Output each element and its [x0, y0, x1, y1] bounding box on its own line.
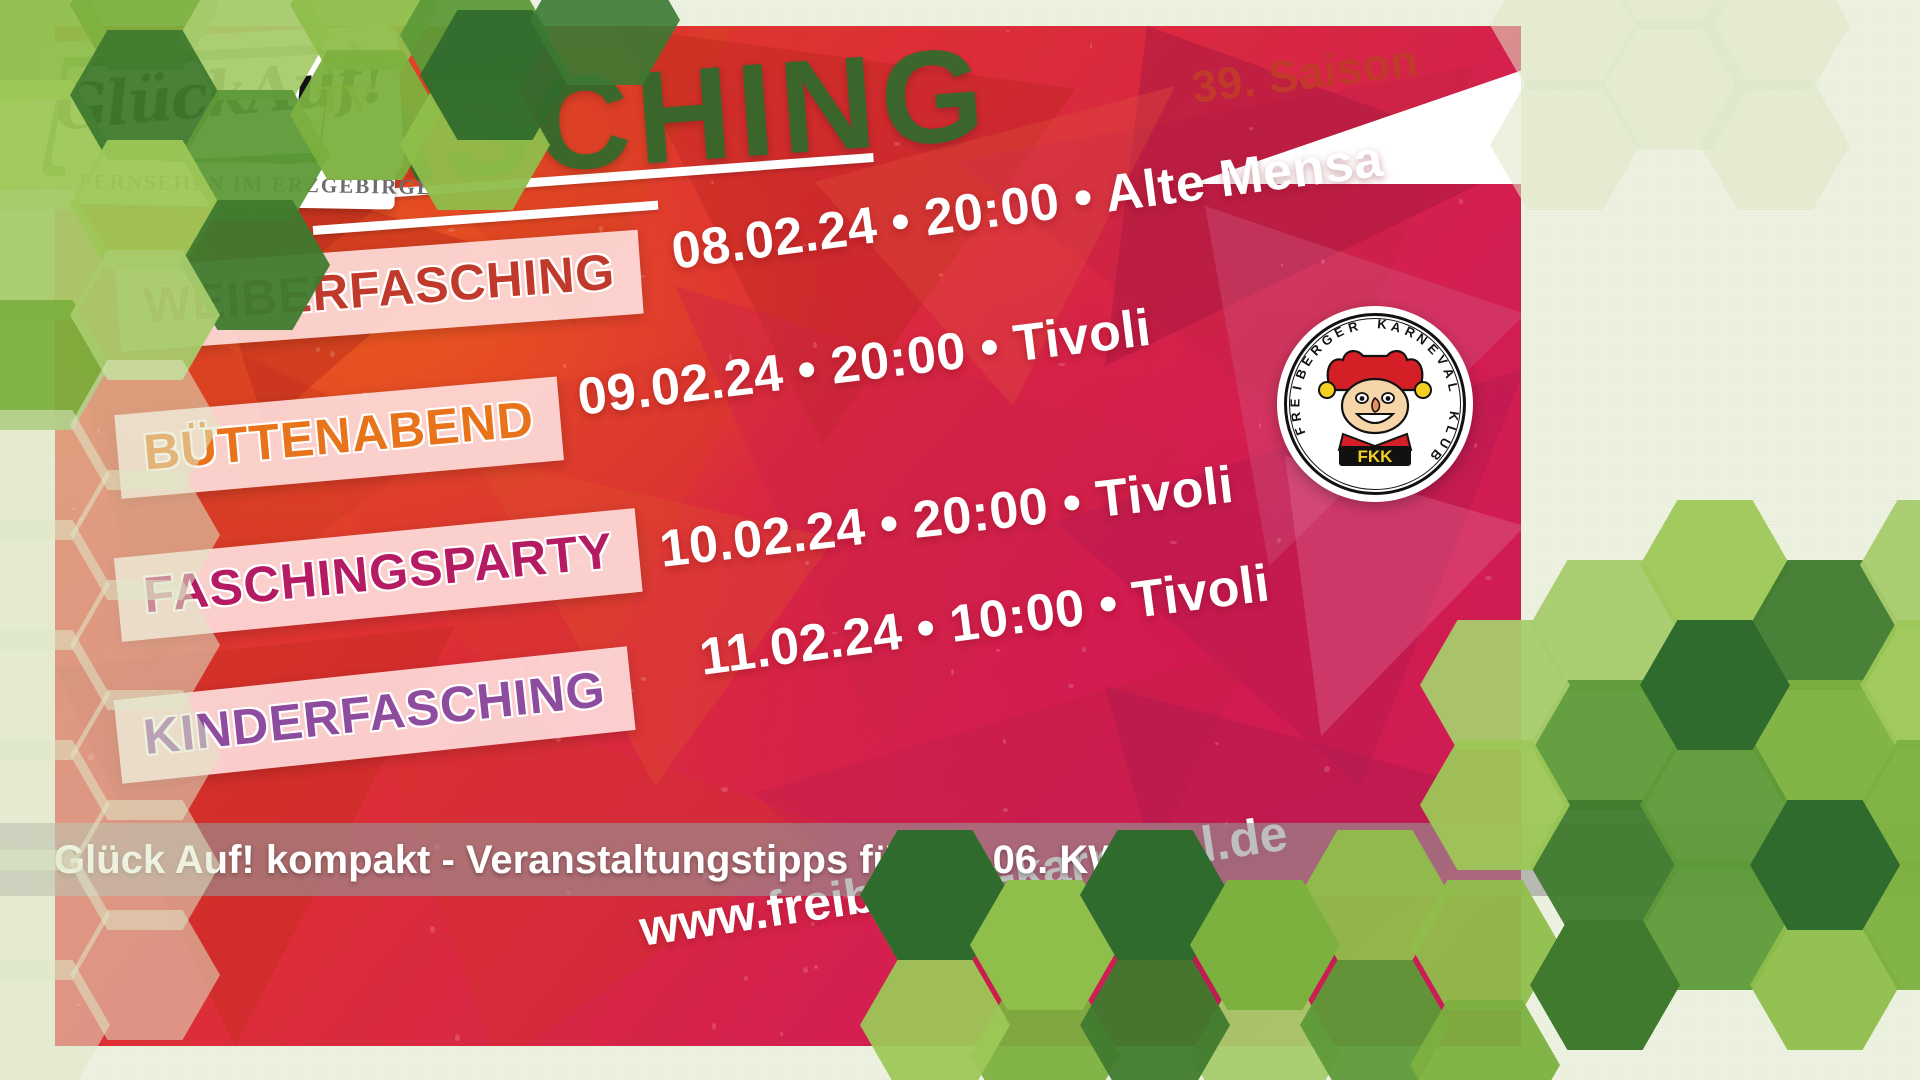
emblem-ring-char: E [1287, 398, 1302, 407]
speckle [1006, 30, 1010, 32]
speckle [448, 228, 455, 232]
speckle [316, 347, 320, 352]
speckle [1090, 43, 1092, 49]
speckle [744, 976, 748, 981]
speckle [1485, 576, 1492, 580]
speckle [455, 1034, 460, 1041]
speckle [1324, 766, 1330, 772]
screen: FASCHING 39. Saison WEIBERFASCHING08.02.… [0, 0, 1920, 1080]
speckle [803, 967, 808, 973]
speckle [780, 1032, 783, 1036]
speckle [814, 965, 818, 969]
emblem-ring-char [1447, 400, 1462, 404]
speckle [1003, 808, 1008, 812]
speckle [951, 669, 954, 675]
speckle [599, 226, 603, 232]
speckle [1082, 647, 1086, 652]
speckle [1277, 538, 1281, 543]
speckle [1459, 199, 1463, 204]
speckle [430, 926, 435, 933]
svg-text:FKK: FKK [1358, 447, 1394, 466]
speckle [1249, 127, 1253, 130]
speckle [996, 649, 1000, 652]
club-emblem: FREIBERGER KARNEVAL KLUB FKK [1277, 306, 1473, 502]
emblem-ring-char: K [1376, 316, 1387, 332]
speckle [1068, 684, 1074, 688]
jester-face-icon: FKK [1313, 346, 1437, 468]
speckle [1259, 423, 1261, 428]
speckle [721, 787, 728, 792]
speckle [563, 364, 566, 368]
speckle [712, 1023, 716, 1030]
speckle [939, 273, 943, 277]
speckle [641, 677, 646, 681]
